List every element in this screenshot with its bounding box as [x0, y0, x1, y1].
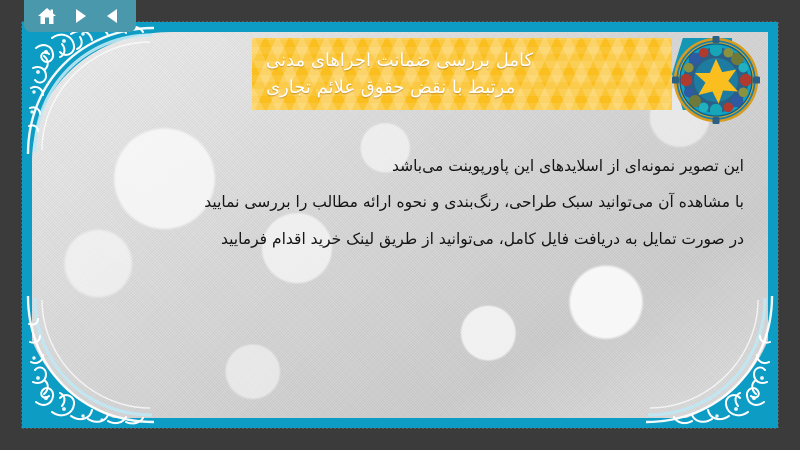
next-slide-button[interactable] [67, 3, 93, 29]
title-banner: کامل بررسی ضمانت اجراهای مدنی مرتبط با ن… [252, 38, 732, 110]
slide-canvas: کامل بررسی ضمانت اجراهای مدنی مرتبط با ن… [22, 22, 778, 428]
banner-body: کامل بررسی ضمانت اجراهای مدنی مرتبط با ن… [252, 38, 672, 110]
triangle-right-icon [71, 7, 89, 25]
home-button[interactable] [34, 3, 60, 29]
slide-navigation-bar [24, 0, 136, 32]
body-line-3: در صورت تمایل به دریافت فایل کامل، می‌تو… [48, 221, 744, 257]
title-line-2: مرتبط با نقض حقوق علائم تجاری [266, 74, 515, 101]
previous-slide-button[interactable] [100, 3, 126, 29]
triangle-left-icon [104, 7, 122, 25]
body-line-1: این تصویر نمونه‌ای از اسلایدهای این پاور… [48, 148, 744, 184]
slide-body: این تصویر نمونه‌ای از اسلایدهای این پاور… [22, 148, 744, 257]
frame-seam-bottom [22, 428, 778, 429]
slide-viewer: کامل بررسی ضمانت اجراهای مدنی مرتبط با ن… [0, 0, 800, 450]
body-line-2: با مشاهده آن می‌توانید سبک طراحی، رنگ‌بن… [48, 184, 744, 220]
frame-seam-right [778, 22, 779, 428]
title-line-1: کامل بررسی ضمانت اجراهای مدنی [266, 47, 533, 74]
home-icon [37, 6, 57, 26]
persian-medallion-icon [672, 36, 760, 124]
